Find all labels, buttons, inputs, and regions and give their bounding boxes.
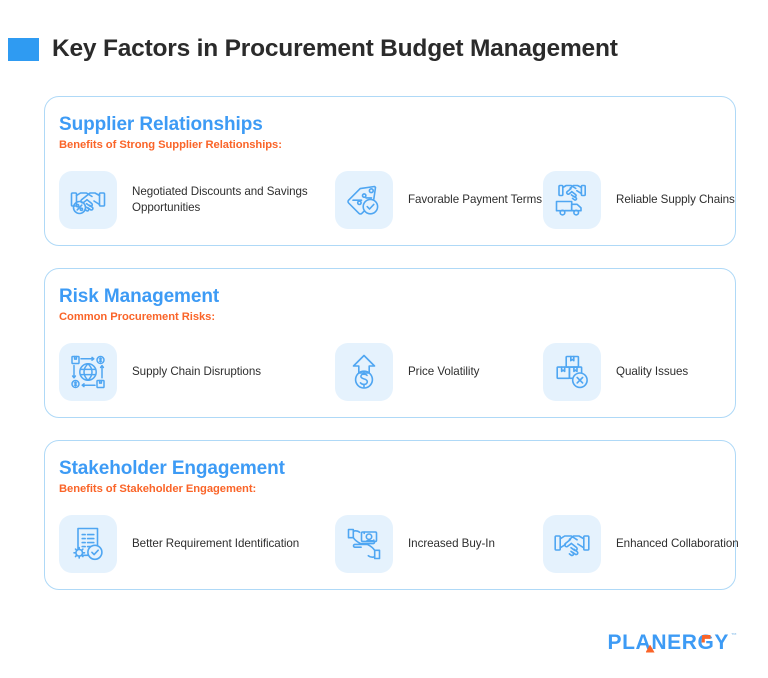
items-row: Better Requirement Identification [59, 515, 735, 573]
list-item-label: Better Requirement Identification [132, 536, 299, 552]
trademark-symbol: ™ [731, 633, 737, 639]
handshake-icon [543, 515, 601, 573]
handshake-delivery-truck-icon [543, 171, 601, 229]
hand-money-exchange-icon [335, 515, 393, 573]
list-item: Supply Chain Disruptions [59, 343, 335, 401]
list-item: Favorable Payment Terms [335, 171, 543, 229]
list-item: Increased Buy-In [335, 515, 543, 573]
list-item-label: Price Volatility [408, 364, 479, 380]
cards-container: Supplier Relationships Benefits of Stron… [44, 96, 736, 590]
card-title: Stakeholder Engagement [59, 458, 735, 480]
list-item: Better Requirement Identification [59, 515, 335, 573]
card-subtitle: Benefits of Stakeholder Engagement: [59, 482, 735, 496]
list-item-label: Reliable Supply Chains [616, 192, 735, 208]
list-item: Quality Issues [543, 343, 743, 401]
list-item-label: Enhanced Collaboration [616, 536, 739, 552]
list-item: Reliable Supply Chains [543, 171, 743, 229]
card-subtitle: Common Procurement Risks: [59, 310, 735, 324]
items-row: Supply Chain Disruptions Price Volatilit… [59, 343, 735, 401]
list-item: Enhanced Collaboration [543, 515, 743, 573]
rising-price-dollar-icon [335, 343, 393, 401]
list-item: Price Volatility [335, 343, 543, 401]
card-title: Supplier Relationships [59, 114, 735, 136]
card-supplier-relationships: Supplier Relationships Benefits of Stron… [44, 96, 736, 246]
card-stakeholder-engagement: Stakeholder Engagement Benefits of Stake… [44, 440, 736, 590]
items-row: Negotiated Discounts and Savings Opportu… [59, 171, 735, 229]
list-item: Negotiated Discounts and Savings Opportu… [59, 171, 335, 229]
list-item-label: Quality Issues [616, 364, 688, 380]
planergy-logo: PLANERGY ™ [608, 632, 737, 653]
boxes-error-icon [543, 343, 601, 401]
page-header: Key Factors in Procurement Budget Manage… [0, 0, 768, 68]
document-gear-check-icon [59, 515, 117, 573]
planergy-logo-text: PLANERGY [608, 632, 729, 653]
card-risk-management: Risk Management Common Procurement Risks… [44, 268, 736, 418]
list-item-label: Negotiated Discounts and Savings Opportu… [132, 184, 335, 217]
global-supply-chain-icon [59, 343, 117, 401]
card-title: Risk Management [59, 286, 735, 308]
header-accent-square [8, 38, 39, 61]
card-subtitle: Benefits of Strong Supplier Relationship… [59, 138, 735, 152]
handshake-discount-icon [59, 171, 117, 229]
page-title: Key Factors in Procurement Budget Manage… [52, 37, 618, 62]
list-item-label: Favorable Payment Terms [408, 192, 542, 208]
footer: PLANERGY ™ [0, 622, 768, 662]
list-item-label: Supply Chain Disruptions [132, 364, 261, 380]
price-tag-check-icon [335, 171, 393, 229]
list-item-label: Increased Buy-In [408, 536, 495, 552]
